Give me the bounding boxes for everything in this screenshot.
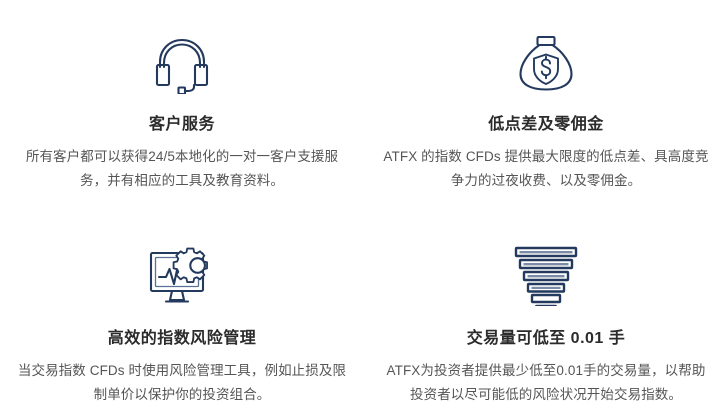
headset-icon	[137, 26, 227, 100]
feature-card-lot-size: 交易量可低至 0.01 手 ATFX为投资者提供最少低至0.01手的交易量，以帮…	[364, 210, 728, 413]
feature-title: 低点差及零佣金	[488, 114, 604, 136]
funnel-bars-icon	[501, 238, 591, 312]
feature-title: 高效的指数风险管理	[108, 328, 257, 350]
feature-card-risk-management: 高效的指数风险管理 当交易指数 CFDs 时使用风险管理工具，例如止损及限制单价…	[0, 210, 364, 413]
feature-card-customer-service: 客户服务 所有客户都可以获得24/5本地化的一对一客户支援服务，并有相应的工具及…	[0, 0, 364, 210]
feature-description: ATFX为投资者提供最少低至0.01手的交易量，以帮助投资者以尽可能低的风险状况…	[381, 359, 711, 407]
feature-description: 所有客户都可以获得24/5本地化的一对一客户支援服务，并有相应的工具及教育资料。	[17, 145, 347, 193]
feature-title: 客户服务	[149, 114, 215, 136]
feature-description: 当交易指数 CFDs 时使用风险管理工具，例如止损及限制单价以保护你的投资组合。	[17, 359, 347, 407]
feature-description: ATFX 的指数 CFDs 提供最大限度的低点差、具高度竞争力的过夜收费、以及零…	[381, 145, 711, 193]
monitor-chart-gear-icon	[137, 238, 227, 312]
feature-title: 交易量可低至 0.01 手	[467, 328, 626, 350]
features-grid: 客户服务 所有客户都可以获得24/5本地化的一对一客户支援服务，并有相应的工具及…	[0, 0, 728, 413]
feature-card-low-spread: 低点差及零佣金 ATFX 的指数 CFDs 提供最大限度的低点差、具高度竞争力的…	[364, 0, 728, 210]
money-bag-shield-dollar-icon	[501, 26, 591, 100]
